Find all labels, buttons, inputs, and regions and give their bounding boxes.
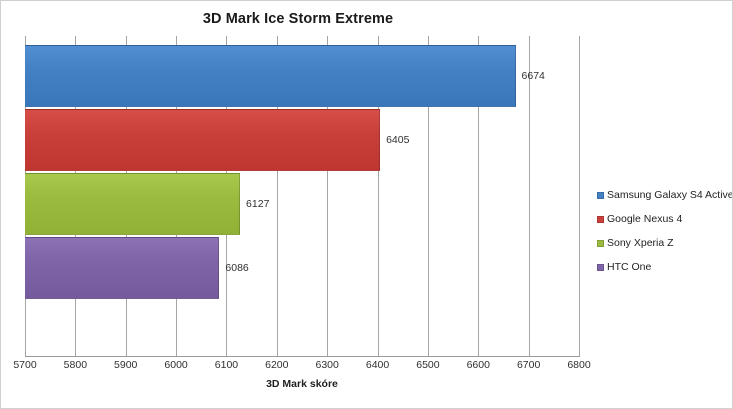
x-tick-label: 6400 (366, 359, 389, 371)
x-axis-title: 3D Mark skóre (25, 378, 579, 390)
x-tick-label: 6000 (164, 359, 187, 371)
x-tick-label: 6600 (467, 359, 490, 371)
x-tick-label: 6800 (567, 359, 590, 371)
x-tick-label: 5900 (114, 359, 137, 371)
bar-value-label: 6405 (386, 134, 409, 146)
x-tick-label: 6300 (315, 359, 338, 371)
legend-item-htc-one[interactable]: HTC One (597, 255, 733, 279)
legend-item-samsung-galaxy-s4-active[interactable]: Samsung Galaxy S4 Active (597, 183, 733, 207)
legend-swatch-icon (597, 240, 604, 247)
bar-value-label: 6674 (522, 70, 545, 82)
legend-item-label: HTC One (607, 261, 651, 273)
x-tick-label: 6100 (215, 359, 238, 371)
x-axis-line (25, 356, 580, 357)
legend-swatch-icon (597, 264, 604, 271)
bar-value-label: 6127 (246, 198, 269, 210)
bar-value-label: 6086 (225, 262, 248, 274)
x-tick-label: 6700 (517, 359, 540, 371)
x-tick-label: 6200 (265, 359, 288, 371)
legend-item-sony-xperia-z[interactable]: Sony Xperia Z (597, 231, 733, 255)
x-tick-label: 5700 (13, 359, 36, 371)
legend-swatch-icon (597, 192, 604, 199)
legend-swatch-icon (597, 216, 604, 223)
plot-area: 6674640561276086 (25, 36, 579, 356)
chart-title: 3D Mark Ice Storm Extreme (1, 11, 595, 27)
bar-htc-one (25, 237, 219, 299)
chart-container: 3D Mark Ice Storm Extreme 66746405612760… (0, 0, 733, 409)
bar-samsung-galaxy-s4-active (25, 45, 516, 107)
legend-item-label: Google Nexus 4 (607, 213, 682, 225)
gridline (529, 36, 530, 356)
legend-item-google-nexus-4[interactable]: Google Nexus 4 (597, 207, 733, 231)
x-tick-label: 5800 (64, 359, 87, 371)
bar-google-nexus-4 (25, 109, 380, 171)
gridline (579, 36, 580, 356)
bar-sony-xperia-z (25, 173, 240, 235)
x-tick-label: 6500 (416, 359, 439, 371)
legend-item-label: Samsung Galaxy S4 Active (607, 189, 733, 201)
legend-item-label: Sony Xperia Z (607, 237, 674, 249)
chart-legend: Samsung Galaxy S4 ActiveGoogle Nexus 4So… (597, 183, 733, 279)
